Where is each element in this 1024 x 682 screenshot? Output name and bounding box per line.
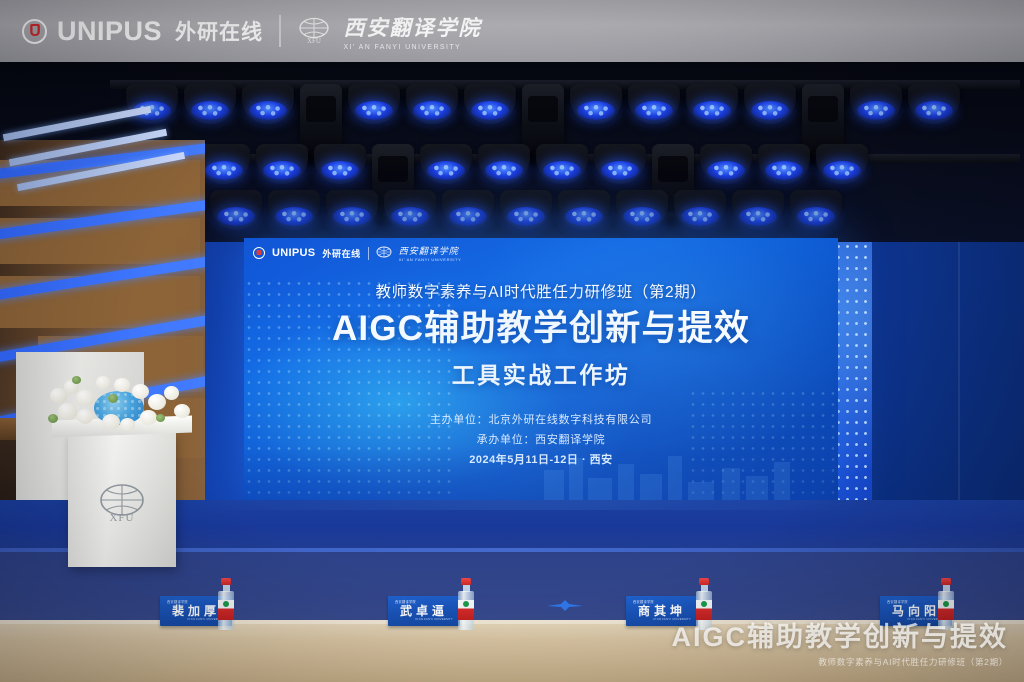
screen-organizer-line: 承办单位：西安翻译学院: [244, 430, 838, 450]
unipus-u-circle-icon: U: [22, 19, 47, 44]
nameplate-3: 西安翻译学院 商其坤 XI'AN FANYI UNIVERSITY: [626, 596, 698, 626]
screen-sub-title: 工具实战工作坊: [244, 356, 838, 390]
page-header-bar: U UNIPUS 外研在线 XFU 西安翻译学院 XI' AN FANYI UN…: [0, 0, 1024, 62]
par-can-light: [686, 84, 738, 124]
screen-xfu-crest-icon: [376, 246, 392, 260]
screen-text-block: 教师数字素养与AI时代胜任力研修班（第2期） AIGC辅助教学创新与提效 工具实…: [244, 280, 838, 471]
par-can-light: [256, 144, 308, 184]
stage-led-screen: UNIPUS 外研在线 西安翻译学院 XI' AN FANYI UNIVERSI…: [244, 238, 838, 504]
screen-unipus-u-icon: [253, 247, 265, 259]
screen-brand-latin: UNIPUS: [272, 247, 315, 259]
par-can-light: [210, 190, 262, 230]
conference-stage-photo: UNIPUS 外研在线 西安翻译学院 XI' AN FANYI UNIVERSI…: [0, 0, 1024, 682]
par-can-light: [478, 144, 530, 184]
water-bottle-3: [696, 578, 712, 630]
screen-university-cn: 西安翻译学院: [399, 244, 462, 257]
par-can-light: [628, 84, 680, 124]
university-en-label: XI' AN FANYI UNIVERSITY: [344, 44, 462, 51]
screen-brand-cn: 外研在线: [322, 247, 360, 260]
screen-logo-bar: UNIPUS 外研在线 西安翻译学院 XI' AN FANYI UNIVERSI…: [253, 244, 461, 262]
screen-series-line: 教师数字素养与AI时代胜任力研修班（第2期）: [244, 280, 838, 302]
nameplate-3-bottom-note: XI'AN FANYI UNIVERSITY: [653, 618, 691, 621]
unipus-brand-lockup: U UNIPUS 外研在线: [22, 16, 263, 47]
screen-organizer-block: 主办单位：北京外研在线数字科技有限公司 承办单位：西安翻译学院 2024年5月1…: [244, 410, 838, 471]
par-can-light: [384, 190, 436, 230]
par-can-light: [464, 84, 516, 124]
par-can-light: [790, 190, 842, 230]
brand-cn-label: 外研在线: [175, 16, 263, 46]
par-can-light: [242, 84, 294, 124]
university-cn-label: 西安翻译学院: [344, 12, 482, 42]
svg-text:XFU: XFU: [307, 37, 321, 45]
front-table: [0, 622, 1024, 682]
par-can-light: [326, 190, 378, 230]
screen-logo-divider: [368, 247, 369, 260]
par-can-light: [908, 84, 960, 124]
header-divider: [279, 15, 281, 47]
screen-host-line: 主办单位：北京外研在线数字科技有限公司: [244, 410, 838, 430]
par-can-light: [268, 190, 320, 230]
par-can-light: [850, 84, 902, 124]
par-can-light: [420, 144, 472, 184]
par-can-light: [700, 144, 752, 184]
par-can-light: [500, 190, 552, 230]
floor-projection-mark: [545, 598, 585, 612]
par-can-light: [348, 84, 400, 124]
water-bottle-4: [938, 578, 954, 630]
podium-flower-arrangement: [44, 370, 196, 442]
svg-text:XFU: XFU: [109, 512, 134, 524]
university-brand-lockup: XFU 西安翻译学院 XI' AN FANYI UNIVERSITY: [297, 12, 482, 51]
par-can-light: [314, 144, 366, 184]
par-can-light: [198, 144, 250, 184]
screen-date-line: 2024年5月11日-12日 · 西安: [244, 450, 838, 470]
par-can-light: [536, 144, 588, 184]
par-can-light: [674, 190, 726, 230]
par-can-light: [744, 84, 796, 124]
brand-latin-label: UNIPUS: [57, 16, 162, 47]
water-bottle-2: [458, 578, 474, 630]
screen-university-en: XI' AN FANYI UNIVERSITY: [399, 257, 462, 262]
speaker-podium: XFU: [68, 432, 176, 567]
nameplate-2: 西安翻译学院 武卓逼 XI'AN FANYI UNIVERSITY: [388, 596, 460, 626]
par-can-light: [442, 190, 494, 230]
xfu-globe-crest-icon: XFU: [297, 16, 331, 46]
par-can-light: [558, 190, 610, 230]
screen-main-title: AIGC辅助教学创新与提效: [244, 311, 838, 348]
left-staircase-railing: [0, 118, 200, 228]
par-can-light: [758, 144, 810, 184]
par-can-light: [594, 144, 646, 184]
water-bottle-1: [218, 578, 234, 630]
par-light-row-back: [210, 190, 842, 230]
nameplate-2-bottom-note: XI'AN FANYI UNIVERSITY: [415, 618, 453, 621]
par-can-light: [616, 190, 668, 230]
par-can-light: [570, 84, 622, 124]
podium-xfu-crest-icon: XFU: [93, 480, 151, 526]
par-can-light: [406, 84, 458, 124]
par-can-light: [816, 144, 868, 184]
front-table-edge: [0, 620, 1024, 624]
par-can-light: [732, 190, 784, 230]
